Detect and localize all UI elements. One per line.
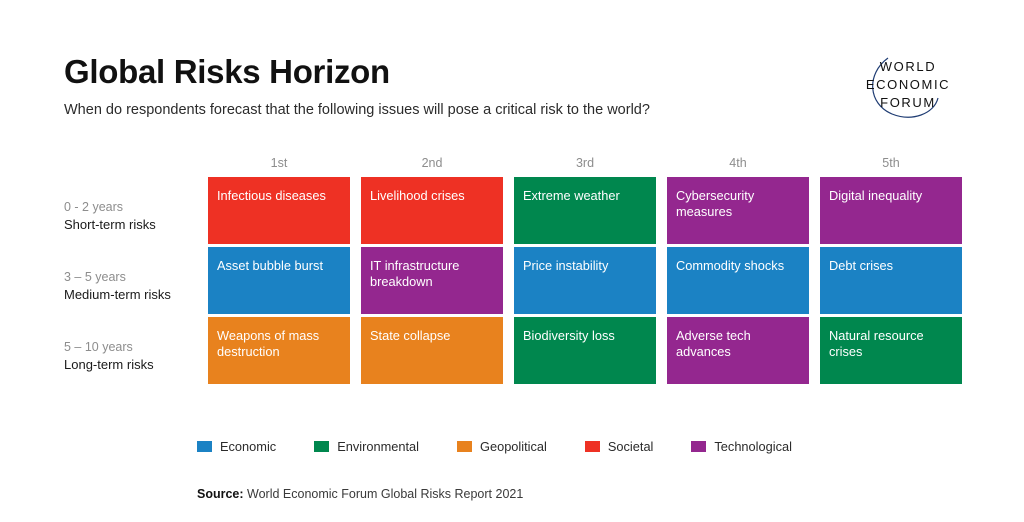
row-label-long-term: 5 – 10 years Long-term risks [64, 317, 197, 384]
world-economic-forum-logo: WORLD ECONOMIC FORUM [848, 52, 968, 124]
risk-card[interactable]: Infectious diseases [208, 177, 350, 244]
legend-swatch-icon [585, 441, 600, 452]
logo-line-1: WORLD [880, 59, 936, 74]
row-term: Long-term risks [64, 356, 197, 374]
risk-card[interactable]: Commodity shocks [667, 247, 809, 314]
row-horizon: 0 - 2 years [64, 199, 197, 216]
column-header-1: 1st [208, 156, 350, 171]
row-term: Medium-term risks [64, 286, 197, 304]
row-label-medium-term: 3 – 5 years Medium-term risks [64, 247, 197, 314]
column-header-row: 1st 2nd 3rd 4th 5th [64, 156, 964, 171]
category-legend: Economic Environmental Geopolitical Soci… [197, 439, 792, 454]
risk-card[interactable]: Cybersecurity measures [667, 177, 809, 244]
risk-card[interactable]: Debt crises [820, 247, 962, 314]
risk-card[interactable]: IT infrastructure breakdown [361, 247, 503, 314]
risk-row-short-term: 0 - 2 years Short-term risks Infectious … [64, 177, 964, 244]
column-header-spacer [64, 156, 197, 171]
risk-card[interactable]: Weapons of mass destruction [208, 317, 350, 384]
legend-swatch-icon [314, 441, 329, 452]
column-header-4: 4th [667, 156, 809, 171]
risk-card[interactable]: Digital inequality [820, 177, 962, 244]
source-label: Source: [197, 487, 244, 501]
legend-item-societal[interactable]: Societal [585, 439, 654, 454]
legend-label: Societal [608, 439, 654, 454]
column-header-5: 5th [820, 156, 962, 171]
legend-label: Geopolitical [480, 439, 547, 454]
column-header-2: 2nd [361, 156, 503, 171]
risk-card[interactable]: Livelihood crises [361, 177, 503, 244]
legend-label: Environmental [337, 439, 419, 454]
row-label-short-term: 0 - 2 years Short-term risks [64, 177, 197, 244]
legend-item-economic[interactable]: Economic [197, 439, 276, 454]
page-header: Global Risks Horizon When do respondents… [64, 54, 844, 120]
risk-card[interactable]: Extreme weather [514, 177, 656, 244]
logo-line-3: FORUM [880, 95, 936, 110]
risk-card[interactable]: Price instability [514, 247, 656, 314]
column-header-3: 3rd [514, 156, 656, 171]
legend-swatch-icon [691, 441, 706, 452]
page-title: Global Risks Horizon [64, 54, 844, 90]
source-text: World Economic Forum Global Risks Report… [247, 487, 523, 501]
logo-line-2: ECONOMIC [866, 77, 950, 92]
legend-swatch-icon [197, 441, 212, 452]
legend-swatch-icon [457, 441, 472, 452]
risk-row-medium-term: 3 – 5 years Medium-term risks Asset bubb… [64, 247, 964, 314]
row-horizon: 3 – 5 years [64, 269, 197, 286]
risk-card[interactable]: Adverse tech advances [667, 317, 809, 384]
risk-card[interactable]: Asset bubble burst [208, 247, 350, 314]
row-horizon: 5 – 10 years [64, 339, 197, 356]
row-term: Short-term risks [64, 216, 197, 234]
legend-item-environmental[interactable]: Environmental [314, 439, 419, 454]
legend-item-technological[interactable]: Technological [691, 439, 792, 454]
risk-card[interactable]: Natural resource crises [820, 317, 962, 384]
risk-matrix: 1st 2nd 3rd 4th 5th 0 - 2 years Short-te… [64, 156, 964, 387]
legend-item-geopolitical[interactable]: Geopolitical [457, 439, 547, 454]
legend-label: Economic [220, 439, 276, 454]
risk-card[interactable]: State collapse [361, 317, 503, 384]
page-subtitle: When do respondents forecast that the fo… [64, 101, 844, 120]
legend-label: Technological [714, 439, 792, 454]
source-note: Source: World Economic Forum Global Risk… [197, 487, 523, 501]
risk-row-long-term: 5 – 10 years Long-term risks Weapons of … [64, 317, 964, 384]
risk-card[interactable]: Biodiversity loss [514, 317, 656, 384]
